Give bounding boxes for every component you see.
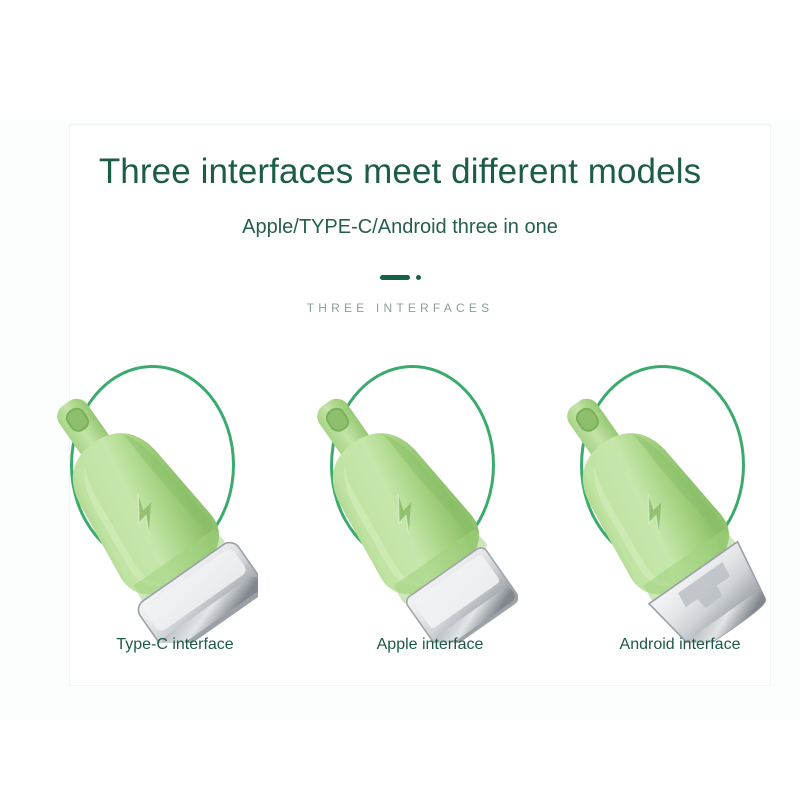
page-subtitle: Apple/TYPE-C/Android three in one <box>0 216 800 239</box>
micro-usb-connector-illustration <box>528 373 768 643</box>
connector-item-android <box>518 355 778 655</box>
product-feature-banner: Three interfaces meet different models A… <box>0 0 800 800</box>
connector-item-apple <box>268 355 528 655</box>
lightning-connector-illustration <box>278 373 518 643</box>
usb-c-connector-illustration <box>18 373 258 643</box>
divider-dash-icon <box>380 275 410 280</box>
connector-caption-android: Android interface <box>550 636 800 654</box>
section-divider <box>0 272 800 282</box>
connector-item-type-c <box>8 355 268 655</box>
connector-caption-apple: Apple interface <box>300 636 560 654</box>
page-title: Three interfaces meet different models <box>0 152 800 192</box>
connector-caption-type-c: Type-C interface <box>45 636 305 654</box>
divider-dot-icon <box>416 275 421 280</box>
section-eyebrow-label: THREE INTERFACES <box>0 301 800 315</box>
connector-showcase <box>0 355 800 655</box>
